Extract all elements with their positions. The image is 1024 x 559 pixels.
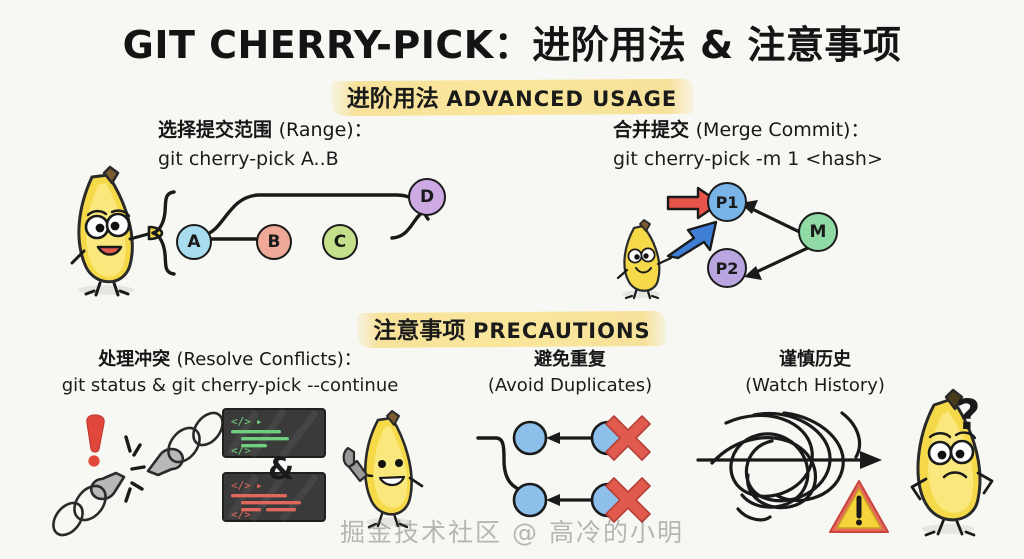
svg-text:</>: </> bbox=[231, 415, 251, 428]
merge-node-P1[interactable]: P1 bbox=[707, 182, 747, 222]
merge-node-M-label: M bbox=[810, 222, 827, 242]
banana-with-wrench-icon bbox=[336, 408, 428, 530]
range-heading-en: (Range)： bbox=[279, 119, 373, 141]
merge-heading-cn: 合并提交 bbox=[613, 119, 689, 141]
conflicts-caption: 处理冲突 (Resolve Conflicts)： git status & g… bbox=[20, 348, 440, 398]
commit-node-D[interactable]: D bbox=[408, 178, 446, 216]
commit-node-B-label: B bbox=[268, 232, 281, 252]
banner-advanced-inner: 进阶用法 ADVANCED USAGE bbox=[331, 76, 694, 118]
merge-node-P2[interactable]: P2 bbox=[707, 248, 747, 288]
svg-text:</>: </> bbox=[231, 508, 251, 521]
range-command: git cherry-pick A..B bbox=[158, 147, 373, 172]
curly-brace-icon bbox=[150, 190, 178, 276]
page-title: GIT CHERRY-PICK：进阶用法 & 注意事项 bbox=[0, 14, 1024, 69]
merge-heading-en: (Merge Commit)： bbox=[696, 119, 870, 141]
svg-text:▸: ▸ bbox=[256, 415, 263, 428]
merge-node-P1-label: P1 bbox=[716, 193, 739, 212]
section-banner-precautions: 注意事项 PRECAUTIONS bbox=[0, 308, 1024, 350]
exclamation-mark-icon bbox=[87, 415, 104, 467]
svg-text:</>: </> bbox=[231, 479, 251, 492]
conflicts-heading-en: (Resolve Conflicts)： bbox=[176, 349, 361, 370]
commit-node-D-label: D bbox=[420, 187, 434, 207]
duplicates-caption: 避免重复 (Avoid Duplicates) bbox=[440, 348, 700, 398]
banner-advanced-cn: 进阶用法 bbox=[347, 86, 439, 112]
merge-node-M[interactable]: M bbox=[798, 212, 838, 252]
history-heading-cn: 谨慎历史 bbox=[690, 348, 940, 371]
commit-node-A-label: A bbox=[187, 232, 200, 252]
merge-caption: 合并提交 (Merge Commit)： git cherry-pick -m … bbox=[613, 118, 883, 172]
commit-node-B[interactable]: B bbox=[256, 224, 292, 260]
merge-command: git cherry-pick -m 1 <hash> bbox=[613, 147, 883, 172]
range-heading: 选择提交范围 (Range)： bbox=[158, 118, 373, 143]
question-mark-icon: ? bbox=[956, 394, 980, 436]
banner-advanced-en: ADVANCED USAGE bbox=[446, 87, 677, 111]
commit-node-C-label: C bbox=[334, 232, 346, 252]
range-caption: 选择提交范围 (Range)： git cherry-pick A..B bbox=[158, 118, 373, 172]
infographic-canvas: GIT CHERRY-PICK：进阶用法 & 注意事项 进阶用法 ADVANCE… bbox=[0, 0, 1024, 559]
banner-precautions-cn: 注意事项 bbox=[373, 318, 465, 344]
conflicts-heading: 处理冲突 (Resolve Conflicts)： bbox=[20, 348, 440, 371]
ampersand-icon: & bbox=[268, 452, 294, 487]
banner-precautions-inner: 注意事项 PRECAUTIONS bbox=[357, 308, 666, 350]
merge-heading: 合并提交 (Merge Commit)： bbox=[613, 118, 883, 143]
code-panel-green-icon: </> ▸ </> bbox=[222, 408, 326, 458]
banner-precautions-en: PRECAUTIONS bbox=[473, 319, 651, 343]
warning-triangle-icon bbox=[828, 478, 890, 536]
avoid-duplicates-diagram bbox=[478, 408, 662, 526]
commit-node-C[interactable]: C bbox=[322, 224, 358, 260]
svg-text:▸: ▸ bbox=[256, 479, 263, 492]
conflicts-command: git status & git cherry-pick --continue bbox=[20, 374, 440, 397]
duplicates-heading-cn: 避免重复 bbox=[440, 348, 700, 371]
range-heading-cn: 选择提交范围 bbox=[158, 119, 272, 141]
section-banner-advanced: 进阶用法 ADVANCED USAGE bbox=[0, 76, 1024, 118]
merge-node-P2-label: P2 bbox=[716, 259, 739, 278]
conflicts-heading-cn: 处理冲突 bbox=[98, 349, 170, 370]
wrench-icon bbox=[344, 448, 367, 481]
broken-chain-icon bbox=[62, 405, 242, 535]
duplicates-heading-en: (Avoid Duplicates) bbox=[440, 374, 700, 397]
commit-node-A[interactable]: A bbox=[176, 224, 212, 260]
svg-text:</>: </> bbox=[231, 444, 251, 457]
